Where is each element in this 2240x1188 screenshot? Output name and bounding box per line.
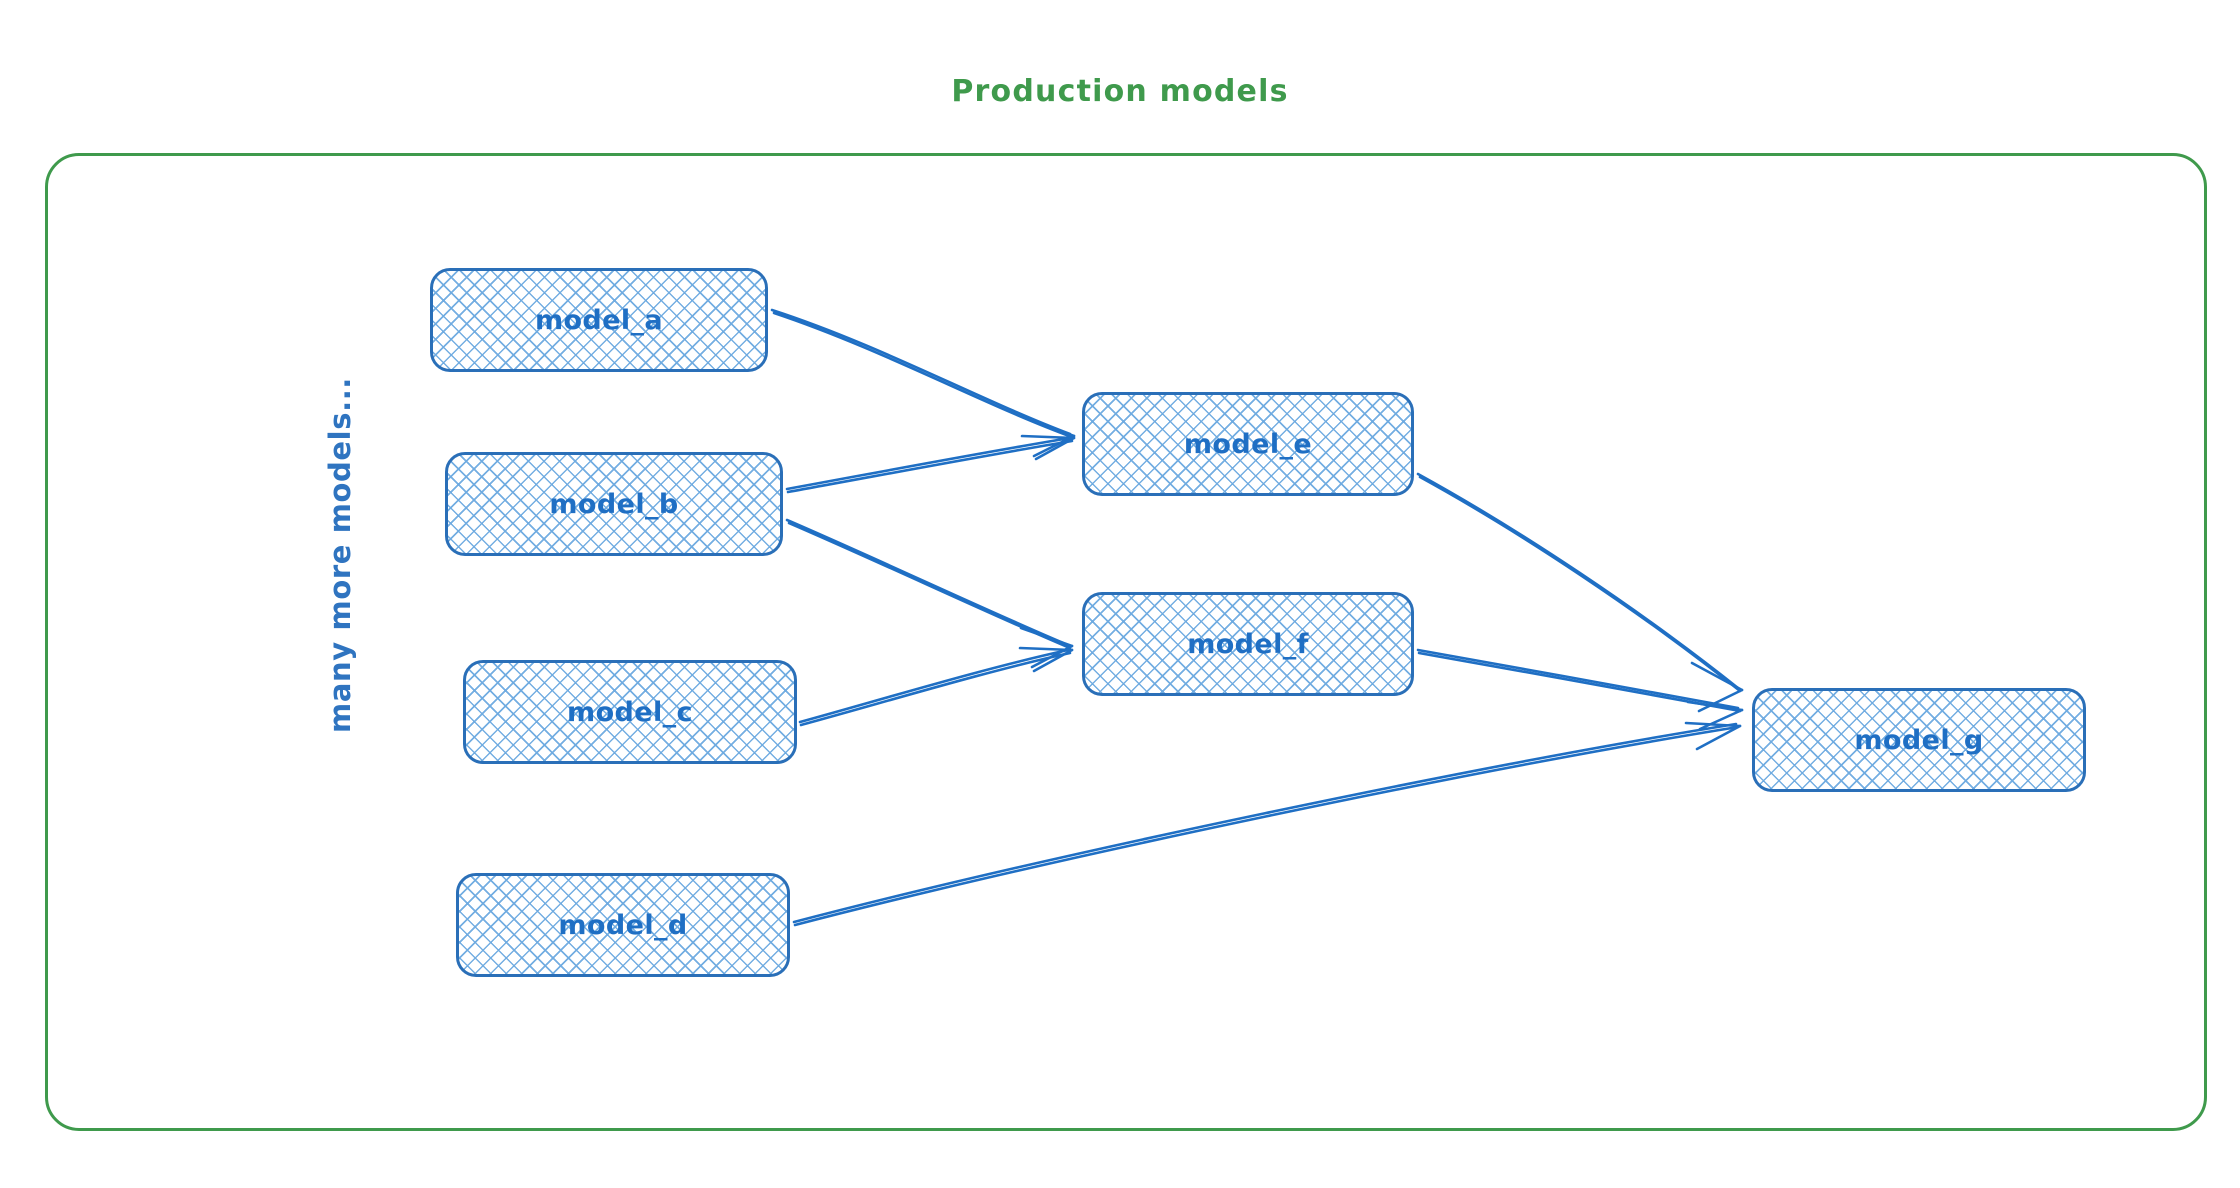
node-model-a[interactable]: model_a — [430, 268, 768, 372]
node-label: model_c — [567, 697, 693, 728]
node-model-g[interactable]: model_g — [1752, 688, 2086, 792]
diagram-canvas: Production models many more models... mo… — [0, 0, 2240, 1188]
node-label: model_e — [1184, 429, 1312, 460]
node-label: model_a — [535, 305, 663, 336]
node-model-e[interactable]: model_e — [1082, 392, 1414, 496]
node-label: model_f — [1187, 629, 1309, 660]
node-label: model_g — [1854, 725, 1983, 756]
node-model-d[interactable]: model_d — [456, 873, 790, 977]
node-model-c[interactable]: model_c — [463, 660, 797, 764]
node-model-f[interactable]: model_f — [1082, 592, 1414, 696]
side-caption: many more models... — [315, 405, 365, 705]
node-model-b[interactable]: model_b — [445, 452, 783, 556]
node-label: model_b — [549, 489, 678, 520]
page-title: Production models — [0, 74, 2240, 109]
node-label: model_d — [558, 910, 687, 941]
